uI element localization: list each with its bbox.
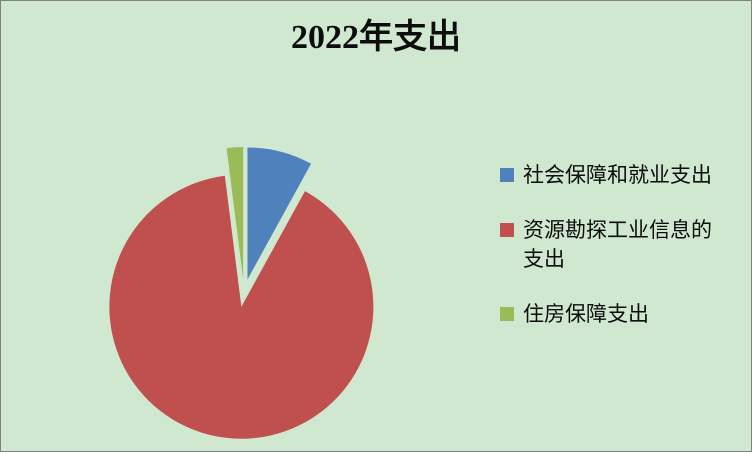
legend-swatch-icon (500, 223, 514, 237)
pie-slices (109, 147, 373, 439)
legend-item-label: 社会保障和就业支出 (523, 161, 712, 190)
legend-item-social-security[interactable]: 社会保障和就业支出 (500, 161, 738, 190)
pie-plot-area (1, 61, 491, 452)
legend-swatch-icon (500, 168, 514, 182)
chart-title: 2022年支出 (1, 17, 751, 59)
legend-item-label: 资源勘探工业信息的支出 (523, 216, 729, 274)
pie-chart-svg (1, 61, 491, 452)
chart-legend: 社会保障和就业支出 资源勘探工业信息的支出 住房保障支出 (500, 161, 738, 329)
chart-container: 2022年支出 社会保障和就业支出 资源勘探工业信息的支出 住房保障支出 (0, 0, 752, 452)
legend-item-resource-exploration[interactable]: 资源勘探工业信息的支出 (500, 216, 738, 274)
legend-swatch-icon (500, 307, 514, 321)
legend-item-label: 住房保障支出 (523, 300, 649, 329)
legend-item-housing-security[interactable]: 住房保障支出 (500, 300, 738, 329)
